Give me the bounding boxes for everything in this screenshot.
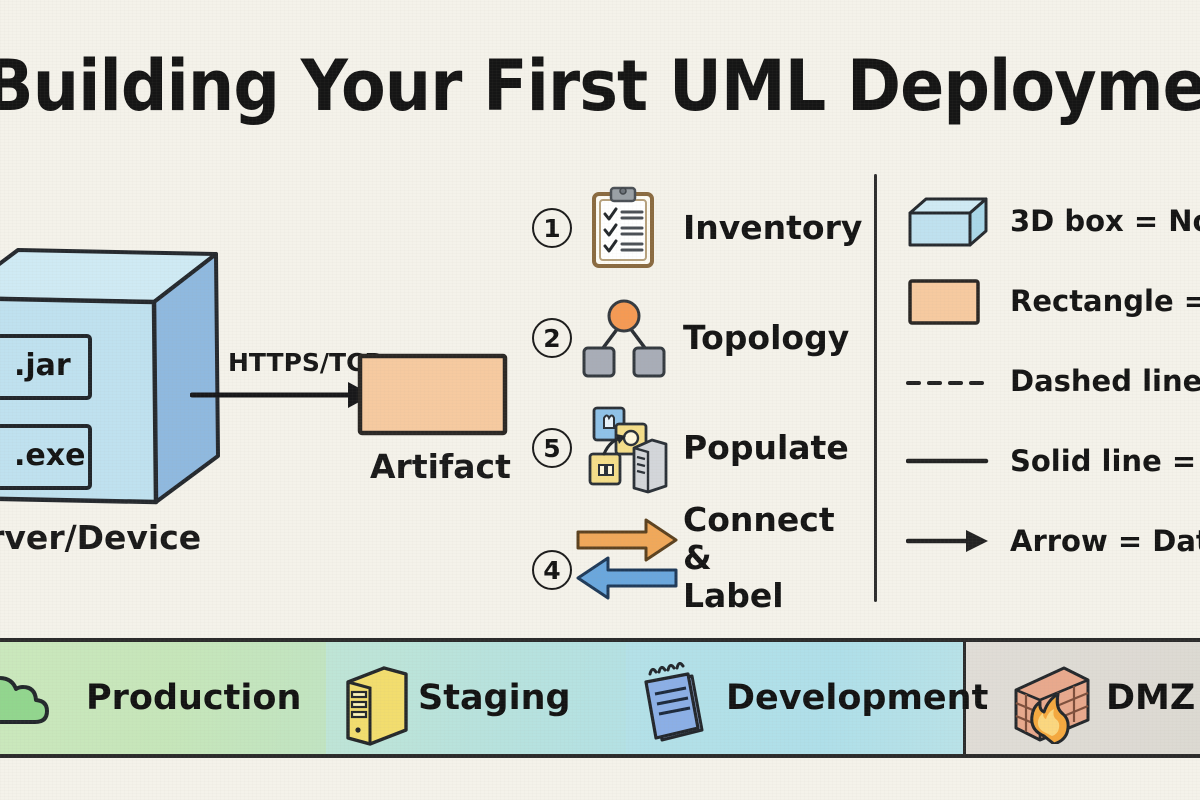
env-label-development: Development bbox=[726, 678, 988, 718]
band-bottom-border bbox=[0, 754, 1200, 758]
diagram-canvas: Building Your First UML Deployment Diagr… bbox=[0, 0, 1200, 800]
dashed-line-symbol-icon bbox=[906, 353, 992, 409]
environment-band: Production Staging bbox=[0, 638, 1200, 758]
step-number-5: 5 bbox=[532, 428, 572, 468]
page-title: Building Your First UML Deployment Diagr… bbox=[0, 38, 1137, 134]
step-label-topology: Topology bbox=[683, 319, 849, 357]
step-item-topology[interactable]: 2 Topology bbox=[528, 288, 868, 388]
legend-label-arrow: Arrow = Data f bbox=[1010, 524, 1200, 558]
legend-label-solid: Solid line = Asso bbox=[1010, 444, 1200, 478]
legend-item-arrow: Arrow = Data f bbox=[900, 506, 1200, 576]
step-item-connect-label[interactable]: 4 Connect & Label bbox=[528, 508, 868, 608]
step-number-2: 2 bbox=[532, 318, 572, 358]
env-label-staging: Staging bbox=[418, 678, 571, 718]
legend-label-node: 3D box = Node bbox=[1010, 204, 1200, 238]
step-number-4: 4 bbox=[532, 550, 572, 590]
notepad-icon bbox=[634, 662, 710, 738]
cloud-icon bbox=[0, 662, 48, 738]
artifact-tag-exe: .exe bbox=[14, 438, 85, 473]
firewall-icon bbox=[1008, 662, 1084, 738]
server-tower-icon bbox=[338, 662, 414, 738]
step-item-inventory[interactable]: 1 Inventory bbox=[528, 178, 868, 278]
legend-list: 3D box = Node Rectangle = Art Dashed lin… bbox=[900, 186, 1200, 586]
step-label-inventory: Inventory bbox=[683, 209, 862, 247]
legend-label-dashed: Dashed line = Dep bbox=[1010, 364, 1200, 398]
vertical-divider bbox=[874, 174, 877, 602]
arrow-symbol-icon bbox=[906, 513, 992, 569]
artifact-label: Artifact bbox=[370, 447, 511, 486]
two-way-arrows-icon bbox=[578, 512, 670, 604]
solid-line-symbol-icon bbox=[906, 433, 992, 489]
steps-list: 1 Inventory bbox=[528, 178, 868, 598]
band-top-border bbox=[0, 638, 1200, 642]
step-number-1: 1 bbox=[532, 208, 572, 248]
legend-item-solid: Solid line = Asso bbox=[900, 426, 1200, 496]
artifact-tag-jar: .jar bbox=[14, 348, 71, 383]
legend-label-artifact: Rectangle = Art bbox=[1010, 284, 1200, 318]
clipboard-checklist-icon bbox=[578, 182, 670, 274]
rectangle-symbol-icon bbox=[906, 273, 992, 329]
legend-item-artifact: Rectangle = Art bbox=[900, 266, 1200, 336]
env-label-dmz: DMZ bbox=[1106, 678, 1195, 718]
connector-arrow-icon bbox=[190, 375, 380, 415]
step-label-populate: Populate bbox=[683, 429, 849, 467]
populate-cards-server-icon bbox=[578, 402, 670, 494]
topology-tree-icon bbox=[578, 292, 670, 384]
legend-item-node: 3D box = Node bbox=[900, 186, 1200, 256]
step-item-populate[interactable]: 5 bbox=[528, 398, 868, 498]
step-label-connect-label: Connect & Label bbox=[683, 501, 868, 615]
legend-item-dashed: Dashed line = Dep bbox=[900, 346, 1200, 416]
env-label-production: Production bbox=[86, 678, 301, 718]
artifact-rectangle bbox=[356, 352, 510, 438]
node-label: Server/Device bbox=[0, 518, 242, 557]
3d-box-symbol-icon bbox=[906, 193, 992, 249]
